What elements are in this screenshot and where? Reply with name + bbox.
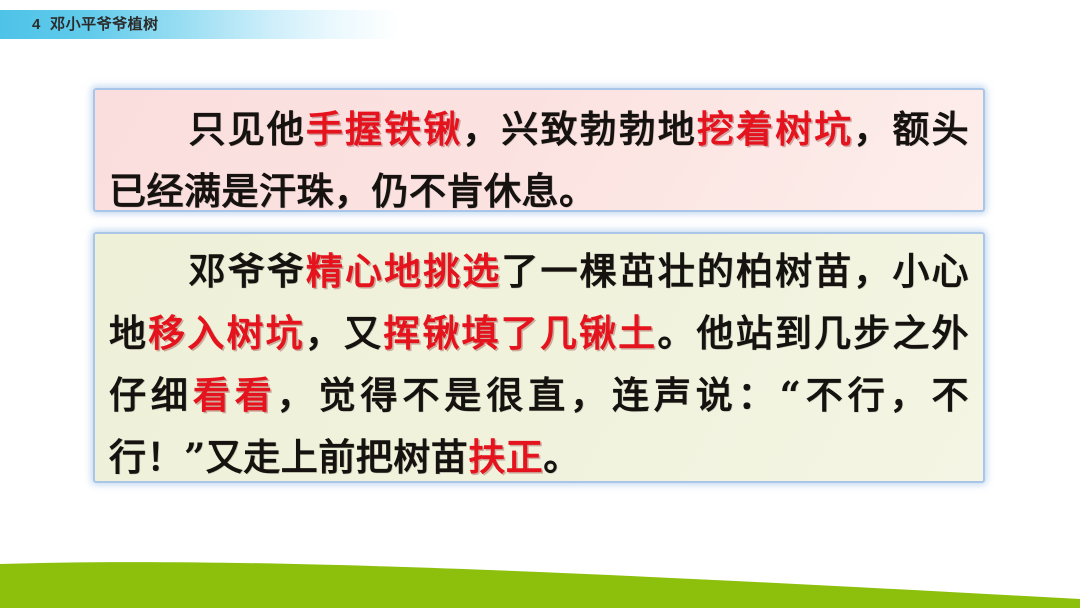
highlighted-phrase: 挖着树坑 [697, 107, 853, 151]
highlighted-phrase: 挥锹填了几锹土 [383, 311, 657, 355]
highlighted-phrase: 手握铁锹 [306, 107, 462, 151]
passage-run: ，又 [305, 311, 383, 355]
header-bar [0, 10, 1080, 39]
passage-text-1: 只见他手握铁锹，兴致勃勃地挖着树坑，额头已经满是汗珠，仍不肯休息。 [109, 98, 969, 222]
page-title: 4 邓小平爷爷植树 [32, 13, 159, 36]
passage-text-2: 邓爷爷精心地挑选了一棵茁壮的柏树苗，小心地移入树坑，又挥锹填了几锹土。他站到几步… [109, 240, 969, 488]
highlighted-phrase: 移入树坑 [148, 311, 305, 355]
highlighted-phrase: 扶正 [468, 435, 543, 479]
passage-run: 邓爷爷 [187, 249, 306, 293]
passage-run: 。 [543, 435, 581, 479]
green-wave-shape [0, 538, 1080, 608]
highlighted-phrase: 看看 [193, 373, 277, 417]
bottom-decoration-wave [0, 538, 1080, 608]
passage-box-excerpt-1: 只见他手握铁锹，兴致勃勃地挖着树坑，额头已经满是汗珠，仍不肯休息。 [93, 88, 985, 212]
passage-run: 只见他 [187, 107, 306, 151]
passage-run: ，兴致勃勃地 [462, 107, 697, 151]
highlighted-phrase: 精心地挑选 [306, 249, 502, 293]
passage-box-excerpt-2: 邓爷爷精心地挑选了一棵茁壮的柏树苗，小心地移入树坑，又挥锹填了几锹土。他站到几步… [93, 232, 985, 483]
